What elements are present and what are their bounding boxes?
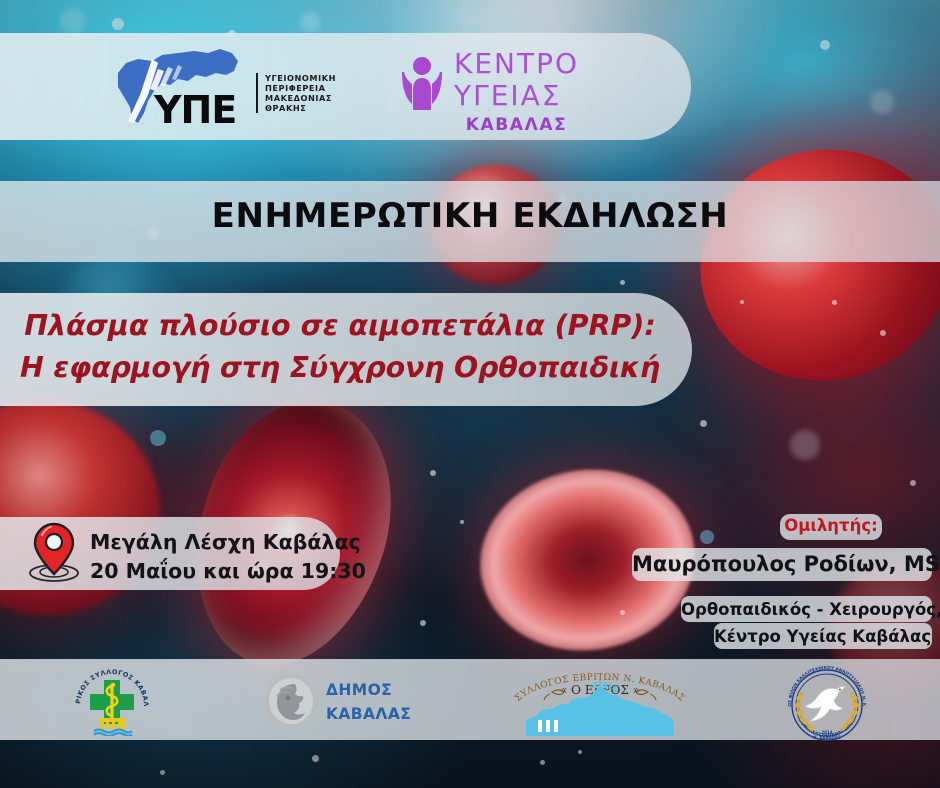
dove-icon <box>805 687 848 721</box>
health-center-line-1: ΚΕΝΤΡΟ <box>454 50 579 78</box>
evros-association-logo: ΣΥΛΛΟΓΟΣ ΕΒΡΙΤΩΝ Ν. ΚΑΒΑΛΑΣ « Ο ΕΒΡΟΣ » … <box>510 668 690 736</box>
municipality-line-1: ΔΗΜΟΣ <box>326 678 411 702</box>
green-cross-caduceus-icon <box>90 680 134 724</box>
speaker-label: Ομιλητής: <box>780 516 882 535</box>
event-poster: ΥΠΕ ΥΓΕΙΟΝΟΜΙΚΗ ΠΕΡΙΦΕΡΕΙΑ ΜΑΚΕΔΟΝΙΑΣ ΘΡ… <box>0 0 940 788</box>
friends-of-arts-association-logo: ΣΥΛΛΟΓΟΣ ΦΙΛΩΝ ΚΑΛΛΙΤΕΧΝΙΚΟΥ ΑΝΑΠΤΥΞΙΑΚΟ… <box>785 663 869 741</box>
ype-logo: ΥΠΕ ΥΓΕΙΟΝΟΜΙΚΗ ΠΕΡΙΦΕΡΕΙΑ ΜΑΚΕΔΟΝΙΑΣ ΘΡ… <box>108 45 348 129</box>
medical-association-kavala-logo: ΙΑΤΡΙΚΟΣ ΣΥΛΛΟΓΟΣ ΚΑΒΑΛΑΣ <box>72 666 152 736</box>
health-center-line-2: ΥΓΕΙΑΣ <box>454 82 579 110</box>
health-center-line-3: ΚΑΒΑΛΑΣ <box>454 117 579 134</box>
municipality-logo-text: ΔΗΜΟΣ ΚΑΒΑΛΑΣ <box>326 678 411 726</box>
ancient-coin-icon <box>262 672 320 730</box>
ype-line-2: ΠΕΡΙΦΕΡΕΙΑ <box>265 83 336 93</box>
subtitle-line-2: Η εφαρμογή στη Σύγχρονη Ορθοπαιδική <box>0 347 680 389</box>
ype-line-3: ΜΑΚΕΔΟΝΙΑΣ <box>265 93 336 103</box>
water-waves-icon <box>94 730 132 737</box>
municipality-of-kavala-logo: ΔΗΜΟΣ ΚΑΒΑΛΑΣ <box>262 672 432 730</box>
venue-datetime: 20 Μαΐου και ώρα 19:30 <box>90 557 366 586</box>
ype-line-4: ΘΡΑΚΗΣ <box>265 103 336 113</box>
doves-place: Ν. ΚΑΒΑΛΑΣ <box>813 735 841 740</box>
speaker-role-line-1: Ορθοπαιδικός - Χειρουργός, <box>681 600 924 619</box>
aqueduct-icon <box>99 718 125 729</box>
venue-place: Μεγάλη Λέσχη Καβάλας <box>90 528 366 557</box>
event-type-heading: ΕΝΗΜΕΡΩΤΙΚΗ ΕΚΔΗΛΩΣΗ <box>0 196 940 236</box>
health-center-logo-text: ΚΕΝΤΡΟ ΥΓΕΙΑΣ ΚΑΒΑΛΑΣ <box>454 50 579 134</box>
macedonia-thrace-map-icon: ΥΠΕ <box>108 45 250 129</box>
health-center-logo: ΚΕΝΤΡΟ ΥΓΕΙΑΣ ΚΑΒΑΛΑΣ <box>398 50 578 132</box>
ype-logo-text: ΥΓΕΙΟΝΟΜΙΚΗ ΠΕΡΙΦΕΡΕΙΑ ΜΑΚΕΔΟΝΙΑΣ ΘΡΑΚΗΣ <box>256 73 336 113</box>
health-center-person-icon <box>398 56 446 112</box>
svg-text:ΥΠΕ: ΥΠΕ <box>153 88 236 129</box>
venue-details: Μεγάλη Λέσχη Καβάλας 20 Μαΐου και ώρα 19… <box>90 528 366 585</box>
subtitle-line-1: Πλάσμα πλούσιο σε αιμοπετάλια (PRP): <box>0 305 680 347</box>
municipality-line-2: ΚΑΒΑΛΑΣ <box>326 702 411 726</box>
speaker-role-line-2: Κέντρο Υγείας Καβάλας <box>714 627 924 646</box>
speaker-name: Μαυρόπουλος Ροδίων, MSc <box>632 552 932 576</box>
event-subtitle: Πλάσμα πλούσιο σε αιμοπετάλια (PRP): Η ε… <box>0 305 680 388</box>
location-pin-icon <box>26 521 82 585</box>
ype-line-1: ΥΓΕΙΟΝΟΜΙΚΗ <box>265 73 336 83</box>
